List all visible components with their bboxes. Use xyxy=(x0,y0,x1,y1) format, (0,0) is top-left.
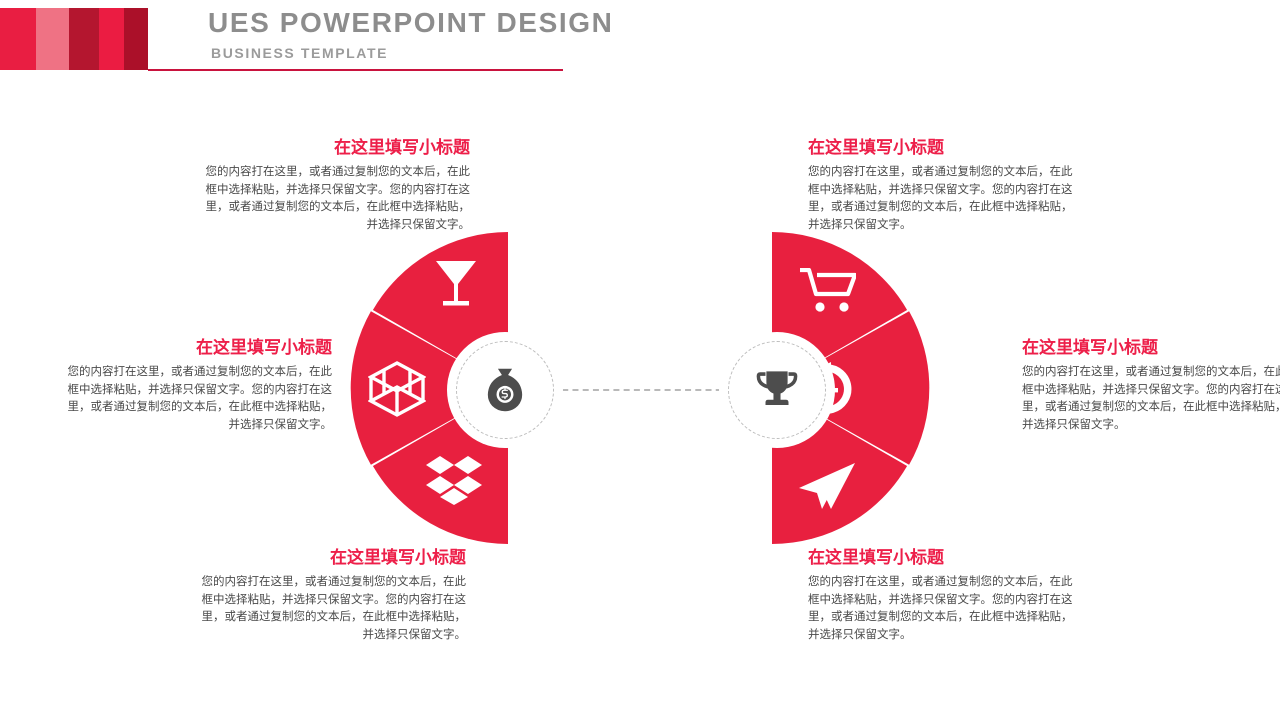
connector-dashed-line xyxy=(552,389,732,391)
shopping-cart-icon[interactable] xyxy=(800,268,856,314)
money-bag-icon xyxy=(482,367,528,413)
paper-plane-icon[interactable] xyxy=(798,462,856,510)
wireframe-cube-icon[interactable] xyxy=(368,360,426,418)
circular-diagram xyxy=(0,0,1280,720)
slide-canvas: UES POWERPOINT DESIGN BUSINESS TEMPLATE … xyxy=(0,0,1280,720)
hub-right[interactable] xyxy=(728,341,826,439)
hub-left[interactable] xyxy=(456,341,554,439)
dropbox-diamonds-icon[interactable] xyxy=(426,455,482,505)
cocktail-glass-icon[interactable] xyxy=(434,258,478,308)
trophy-icon xyxy=(754,367,800,413)
